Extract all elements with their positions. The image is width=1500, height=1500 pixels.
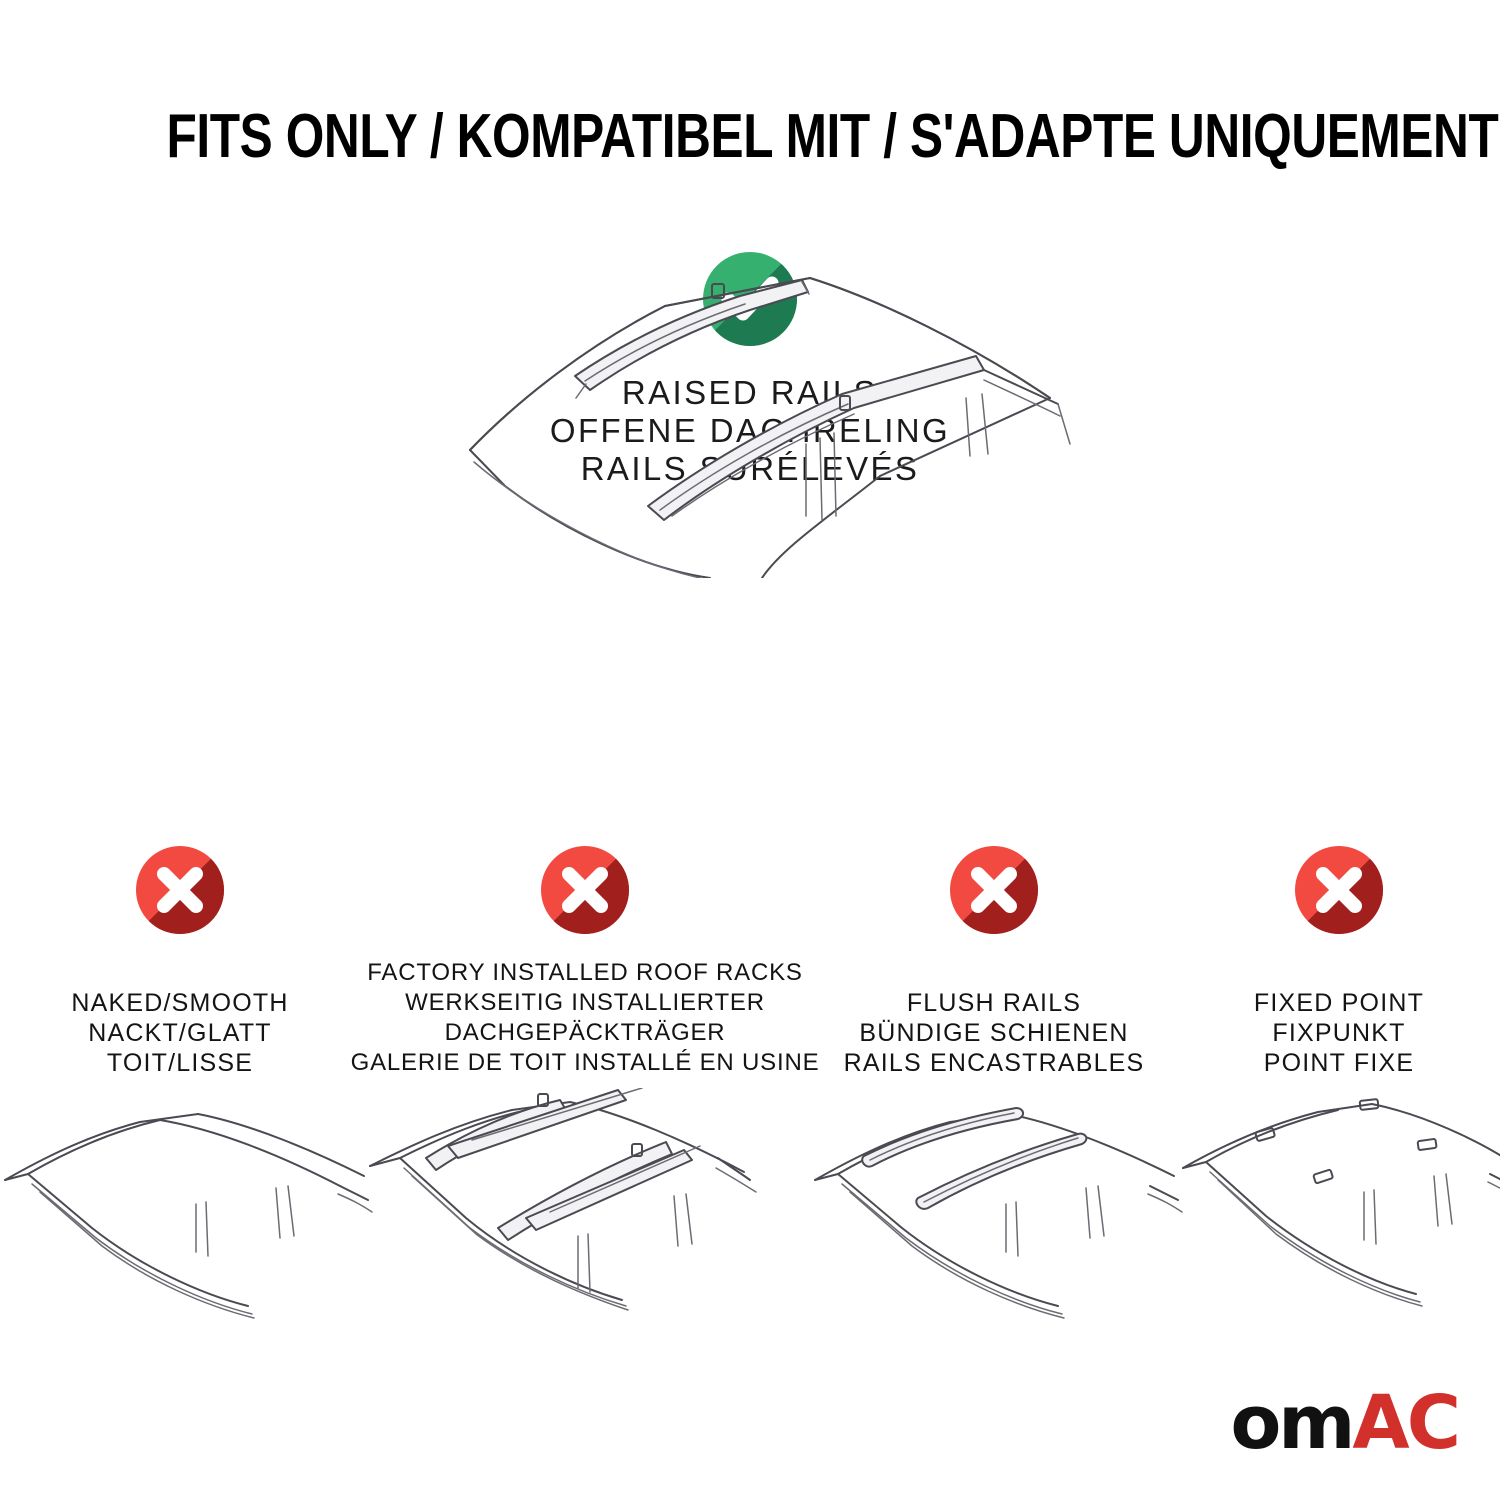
- brand-logo-red-part: AC: [1352, 1380, 1458, 1466]
- page-title: FITS ONLY / KOMPATIBEL MIT / S'ADAPTE UN…: [166, 104, 1498, 170]
- rejected-label-line-de-2: DACHGEPÄCKTRÄGER: [351, 1018, 820, 1048]
- red-x-circle-icon: [1295, 846, 1383, 934]
- rejected-illustration: [0, 1088, 360, 1328]
- brand-logo: omAC: [1230, 1386, 1458, 1460]
- rejected-label-line-en: NAKED/SMOOTH: [71, 988, 288, 1018]
- rejected-item-naked-smooth: NAKED/SMOOTH NACKT/GLATT TOIT/LISSE: [0, 846, 360, 1328]
- page-title-container: FITS ONLY / KOMPATIBEL MIT / S'ADAPTE UN…: [0, 104, 1500, 170]
- rejected-illustration: [1178, 1088, 1500, 1328]
- rejected-row: NAKED/SMOOTH NACKT/GLATT TOIT/LISSE: [0, 846, 1500, 1328]
- rejected-item-flush-rails: FLUSH RAILS BÜNDIGE SCHIENEN RAILS ENCAS…: [810, 846, 1178, 1328]
- rejected-label-line-fr: POINT FIXE: [1254, 1048, 1424, 1078]
- rejected-label-line-fr: RAILS ENCASTRABLES: [844, 1048, 1145, 1078]
- rejected-illustration: [360, 1088, 810, 1328]
- rejected-label-line-de: NACKT/GLATT: [71, 1018, 288, 1048]
- rejected-item-factory-roof-racks: FACTORY INSTALLED ROOF RACKS WERKSEITIG …: [360, 846, 810, 1328]
- rejected-label-line-fr: GALERIE DE TOIT INSTALLÉ EN USINE: [351, 1048, 820, 1078]
- red-x-circle-icon: [950, 846, 1038, 934]
- rejected-illustration: [810, 1088, 1178, 1328]
- rejected-item-fixed-point: FIXED POINT FIXPUNKT POINT FIXE: [1178, 846, 1500, 1328]
- brand-logo-dark-part: om: [1230, 1380, 1352, 1466]
- x-mark-glyph: [1295, 846, 1383, 934]
- rejected-label-line-en: FACTORY INSTALLED ROOF RACKS: [351, 958, 820, 988]
- rejected-label-line-en: FIXED POINT: [1254, 988, 1424, 1018]
- rejected-label-line-en: FLUSH RAILS: [844, 988, 1145, 1018]
- approved-illustration: [410, 248, 1110, 578]
- rejected-label-line-de: BÜNDIGE SCHIENEN: [844, 1018, 1145, 1048]
- rejected-label-line-de: FIXPUNKT: [1254, 1018, 1424, 1048]
- red-x-circle-icon: [136, 846, 224, 934]
- rejected-label-line-fr: TOIT/LISSE: [71, 1048, 288, 1078]
- rejected-label-line-de-1: WERKSEITIG INSTALLIERTER: [351, 988, 820, 1018]
- rejected-label-box: FACTORY INSTALLED ROOF RACKS WERKSEITIG …: [351, 946, 820, 1078]
- x-mark-glyph: [136, 846, 224, 934]
- rejected-label-box: NAKED/SMOOTH NACKT/GLATT TOIT/LISSE: [71, 946, 288, 1078]
- x-mark-glyph: [541, 846, 629, 934]
- rejected-label-box: FIXED POINT FIXPUNKT POINT FIXE: [1254, 946, 1424, 1078]
- red-x-circle-icon: [541, 846, 629, 934]
- rejected-label-box: FLUSH RAILS BÜNDIGE SCHIENEN RAILS ENCAS…: [844, 946, 1145, 1078]
- x-mark-glyph: [950, 846, 1038, 934]
